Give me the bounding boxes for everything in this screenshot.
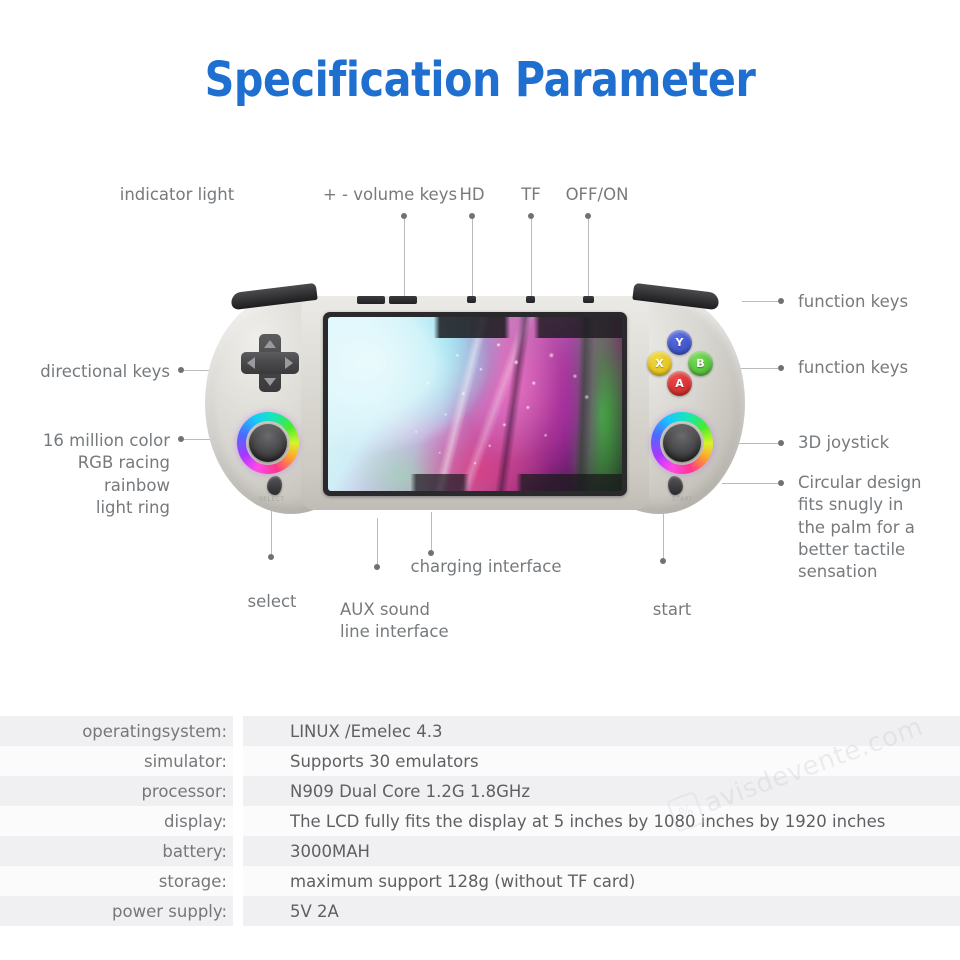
select-button[interactable] — [267, 476, 282, 495]
callout-function-keys-top: function keys — [798, 291, 960, 313]
screen-droplets — [328, 317, 622, 491]
dpad-right-arrow-icon[interactable] — [285, 357, 293, 369]
callout-circular-design: Circular design fits snugly in the palm … — [798, 472, 958, 583]
screen-reflection-bottom — [328, 474, 622, 491]
screen-display — [328, 317, 622, 491]
specification-table: operatingsystem: LINUX /Emelec 4.3 simul… — [0, 716, 960, 926]
leader-line-aux-sound — [377, 518, 378, 564]
leader-line-function-keys-top — [742, 301, 778, 302]
table-row: operatingsystem: LINUX /Emelec 4.3 — [0, 716, 960, 746]
spec-key: power supply: — [0, 896, 227, 926]
spec-key: operatingsystem: — [0, 716, 227, 746]
specification-infographic: Specification Parameter indicator light … — [0, 0, 960, 960]
callout-hd: HD — [450, 184, 494, 206]
start-button[interactable] — [668, 476, 683, 495]
callout-charging-interface: charging interface — [396, 556, 576, 578]
leader-line-volume-keys — [404, 219, 405, 299]
table-row: processor: N909 Dual Core 1.2G 1.8GHz — [0, 776, 960, 806]
callout-function-keys-bottom: function keys — [798, 357, 960, 379]
leader-line-hd — [472, 219, 473, 301]
spec-key: storage: — [0, 866, 227, 896]
spec-key: simulator: — [0, 746, 227, 776]
callout-start: start — [627, 599, 717, 621]
table-row: storage: maximum support 128g (without T… — [0, 866, 960, 896]
callout-directional-keys: directional keys — [10, 361, 170, 383]
spec-key: battery: — [0, 836, 227, 866]
page-title: Specification Parameter — [67, 52, 893, 108]
spec-value: 3000MAH — [290, 836, 370, 866]
handheld-console-illustration: Y X B A SELECT START — [205, 292, 745, 514]
callout-3d-joystick: 3D joystick — [798, 432, 960, 454]
right-joystick-cap[interactable] — [663, 424, 701, 462]
volume-key-plus[interactable] — [389, 296, 417, 304]
table-row: display: The LCD fully fits the display … — [0, 806, 960, 836]
spec-value: Supports 30 emulators — [290, 746, 479, 776]
hd-port[interactable] — [467, 296, 476, 303]
left-joystick[interactable] — [237, 412, 299, 474]
spec-value: N909 Dual Core 1.2G 1.8GHz — [290, 776, 530, 806]
button-a[interactable]: A — [667, 371, 692, 396]
tf-slot[interactable] — [526, 296, 535, 303]
callout-indicator-light: indicator light — [112, 184, 242, 206]
dpad-left-arrow-icon[interactable] — [247, 357, 255, 369]
face-button-cluster: Y X B A — [647, 330, 713, 396]
dpad-down-arrow-icon[interactable] — [264, 378, 276, 386]
callout-dot-aux-sound — [374, 564, 380, 570]
row-value-background — [243, 896, 960, 926]
dpad-up-arrow-icon[interactable] — [264, 340, 276, 348]
callout-aux-sound: AUX sound line interface — [340, 599, 510, 644]
callout-rgb-light-ring: 16 million color RGB racing rainbow ligh… — [10, 430, 170, 519]
spec-value: maximum support 128g (without TF card) — [290, 866, 635, 896]
screen-bezel — [323, 312, 627, 496]
volume-key-minus[interactable] — [357, 296, 385, 304]
power-switch[interactable] — [583, 296, 594, 303]
button-x[interactable]: X — [647, 351, 672, 376]
spec-value: LINUX /Emelec 4.3 — [290, 716, 443, 746]
callout-dot-function-keys-bottom — [778, 365, 784, 371]
callout-tf: TF — [512, 184, 550, 206]
leader-line-tf — [531, 219, 532, 301]
spec-key: display: — [0, 806, 227, 836]
right-joystick[interactable] — [651, 412, 713, 474]
callout-off-on: OFF/ON — [556, 184, 638, 206]
screen-reflection-top — [328, 317, 622, 338]
spec-value: The LCD fully fits the display at 5 inch… — [290, 806, 885, 836]
start-button-label: START — [672, 496, 693, 503]
button-y[interactable]: Y — [667, 330, 692, 355]
select-button-label: SELECT — [259, 496, 285, 503]
leader-line-start — [663, 508, 664, 558]
callout-dot-function-keys-top — [778, 298, 784, 304]
leader-line-off-on — [588, 219, 589, 299]
table-row: battery: 3000MAH — [0, 836, 960, 866]
callout-dot-select — [268, 554, 274, 560]
callout-select: select — [226, 591, 318, 613]
directional-pad[interactable] — [241, 334, 299, 392]
table-row: simulator: Supports 30 emulators — [0, 746, 960, 776]
callout-dot-3d-joystick — [778, 440, 784, 446]
spec-key: processor: — [0, 776, 227, 806]
left-joystick-cap[interactable] — [249, 424, 287, 462]
table-row: power supply: 5V 2A — [0, 896, 960, 926]
button-b[interactable]: B — [688, 351, 713, 376]
leader-line-select — [271, 508, 272, 554]
leader-line-charging-interface — [431, 512, 432, 550]
callout-dot-start — [660, 558, 666, 564]
callout-dot-circular-design — [778, 480, 784, 486]
spec-value: 5V 2A — [290, 896, 339, 926]
